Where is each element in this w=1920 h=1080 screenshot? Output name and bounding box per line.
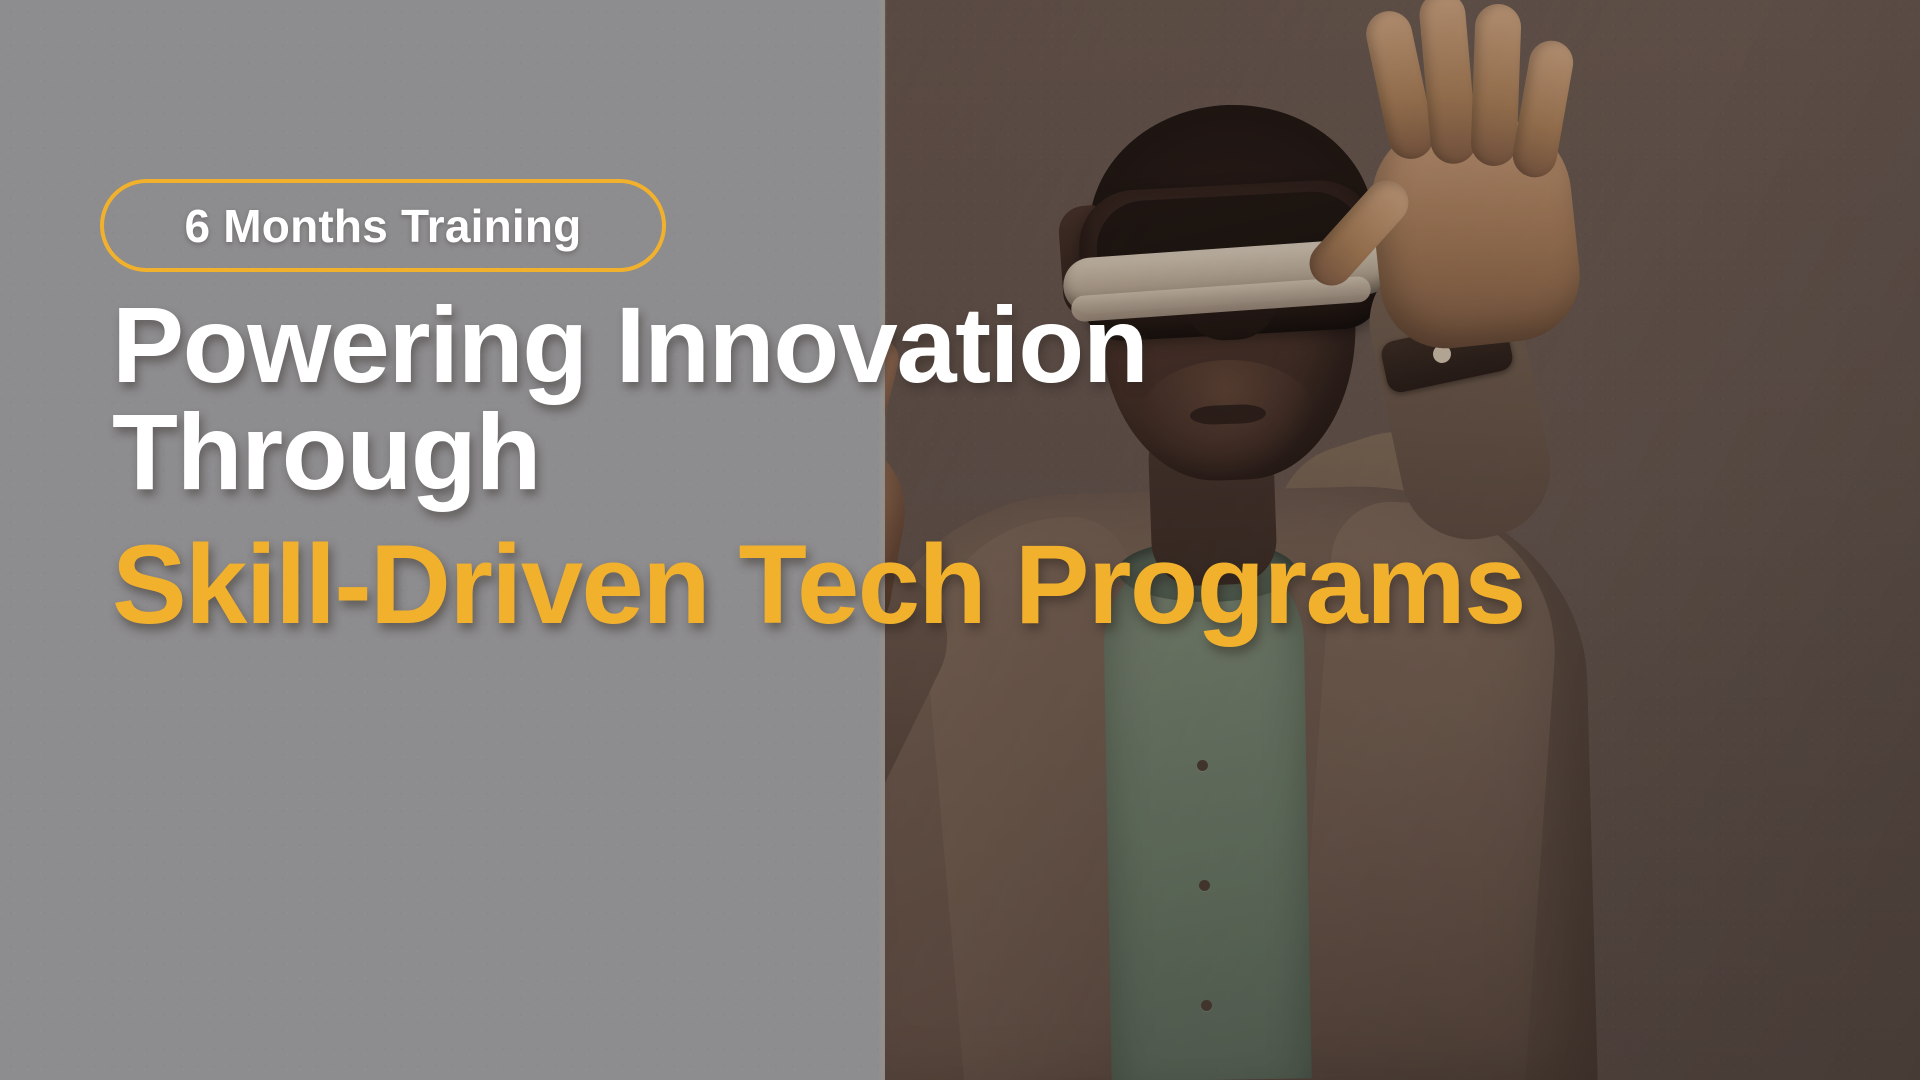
headline-line-3-accent: Skill-Driven Tech Programs [112,530,1912,641]
duration-badge-label: 6 Months Training [185,199,582,253]
headline-line-1: Powering Innovation [112,292,1912,399]
banner-content: 6 Months Training Powering Innovation Th… [0,0,1920,1080]
headline-block: Powering Innovation Through Skill-Driven… [112,292,1912,641]
promo-banner: 6 Months Training Powering Innovation Th… [0,0,1920,1080]
headline-line-2: Through [112,399,1912,506]
duration-badge: 6 Months Training [100,179,666,272]
